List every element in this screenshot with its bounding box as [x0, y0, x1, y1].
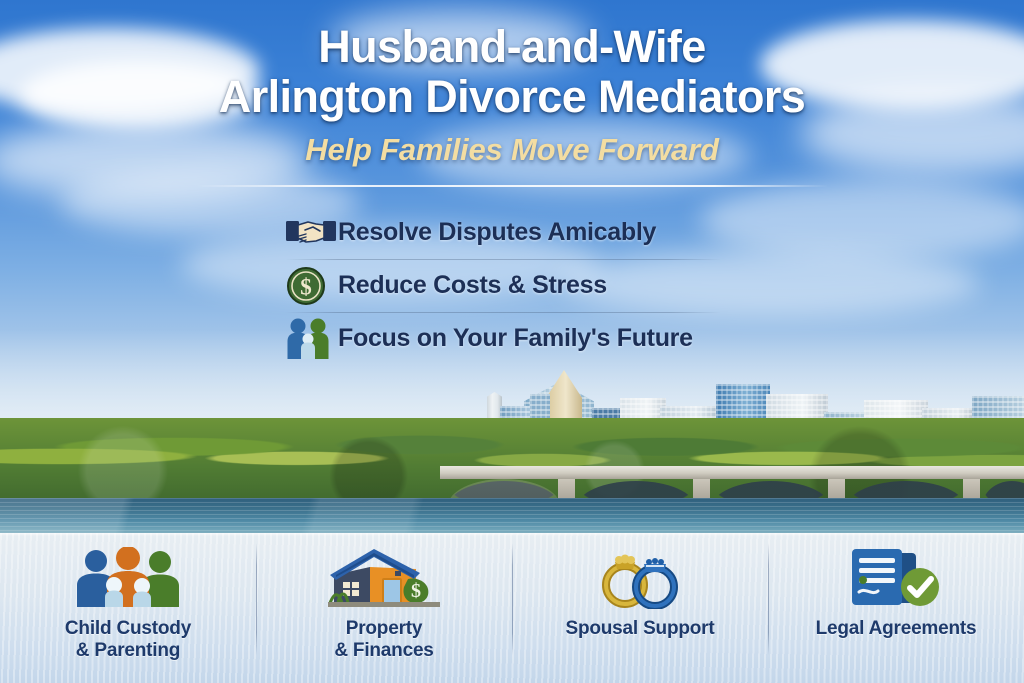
subtitle: Help Families Move Forward: [0, 132, 1024, 168]
headline-line-2: Arlington Divorce Mediators: [0, 72, 1024, 122]
benefit-item: Resolve Disputes Amicably: [0, 206, 1024, 259]
svg-text:$: $: [411, 580, 421, 602]
service-label-line2: & Parenting: [76, 640, 180, 661]
service-label: Legal Agreements: [816, 618, 977, 640]
benefit-item: Focus on Your Family's Future: [0, 312, 1024, 365]
service-label-line2: & Finances: [334, 640, 433, 661]
handshake-icon: [286, 216, 338, 250]
benefit-label: Resolve Disputes Amicably: [338, 218, 656, 247]
service-label: Property & Finances: [334, 618, 433, 661]
poster: Husband-and-Wife Arlington Divorce Media…: [0, 0, 1024, 683]
service-spousal-support[interactable]: Spousal Support: [512, 533, 768, 640]
house-money-icon: $: [328, 547, 440, 609]
river-water: [0, 498, 1024, 538]
document-check-icon: [844, 547, 948, 609]
divider-rule: [196, 185, 828, 187]
service-child-custody[interactable]: Child Custody & Parenting: [0, 533, 256, 661]
wedding-rings-icon: [587, 547, 693, 609]
headline-block: Husband-and-Wife Arlington Divorce Media…: [0, 22, 1024, 168]
service-label: Spousal Support: [565, 618, 714, 640]
benefit-item: $ Reduce Costs & Stress: [0, 259, 1024, 312]
service-legal-agreements[interactable]: Legal Agreements: [768, 533, 1024, 640]
benefit-label: Focus on Your Family's Future: [338, 324, 693, 353]
dollar-coin-icon: $: [286, 266, 338, 306]
benefit-label: Reduce Costs & Stress: [338, 271, 607, 300]
service-label-line1: Property: [346, 618, 423, 639]
service-label-line1: Legal Agreements: [816, 618, 977, 639]
benefits-list: Resolve Disputes Amicably $ Reduce Costs…: [0, 206, 1024, 365]
service-property-finances[interactable]: $ Property & Finances: [256, 533, 512, 661]
services-bar: Child Custody & Parenting $: [0, 533, 1024, 683]
svg-text:$: $: [300, 274, 312, 299]
family-group-icon: [286, 317, 338, 361]
service-label-line1: Spousal Support: [565, 618, 714, 639]
service-label-line1: Child Custody: [65, 618, 191, 639]
service-label: Child Custody & Parenting: [65, 618, 191, 661]
headline-line-1: Husband-and-Wife: [0, 22, 1024, 72]
family-three-adults-icon: [74, 547, 182, 609]
